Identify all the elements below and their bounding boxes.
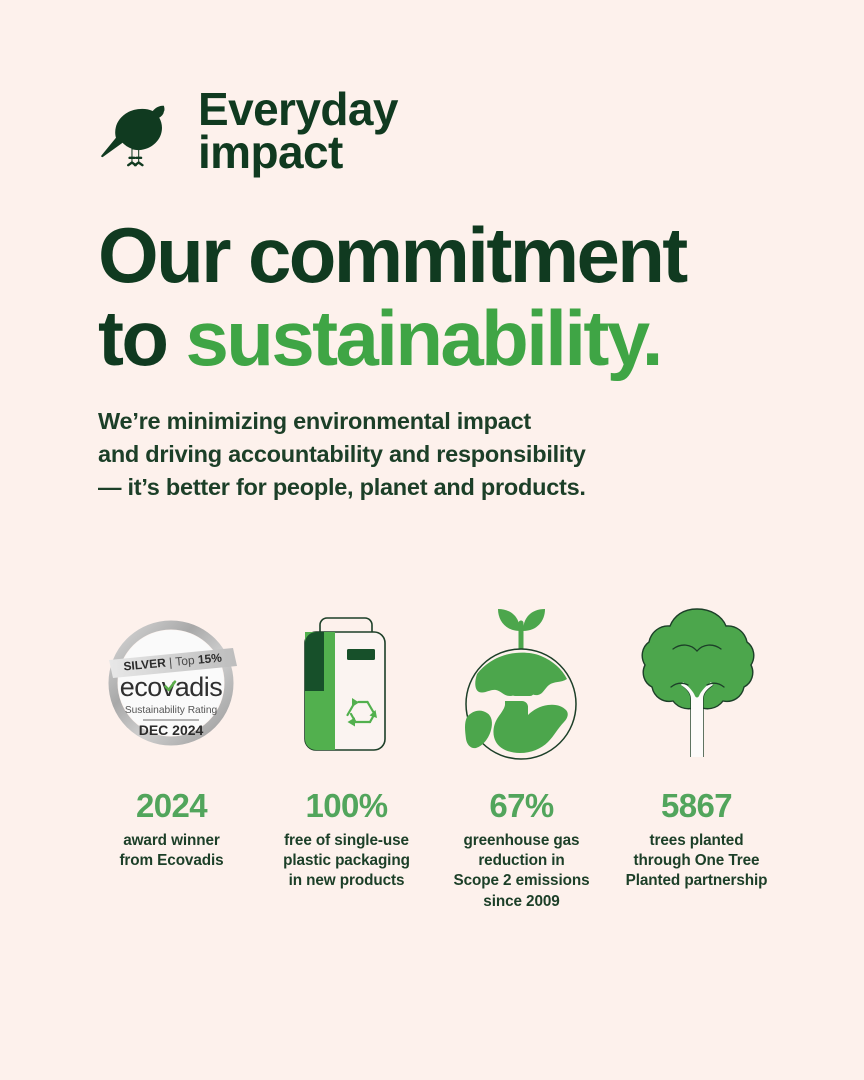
headline-line-2-prefix: to [98,294,186,382]
caption-line: through One Tree [626,851,768,871]
headline-accent-word: sustainability. [186,294,661,382]
caption-line: free of single-use [283,831,410,851]
page-title: Our commitment to sustainability. [98,214,798,379]
globe-sprout-icon [457,597,587,769]
caption-line: trees planted [626,831,768,851]
badge-rating-label: Sustainability Rating [125,705,218,716]
stat-caption: greenhouse gas reduction in Scope 2 emis… [453,831,589,912]
ecovadis-badge-icon: SILVER | Top 15% ecovadis Sustainability… [99,608,244,758]
stat-value: 5867 [661,789,732,822]
stat-icon-wrap [289,600,404,765]
stat-icon-wrap: SILVER | Top 15% ecovadis Sustainability… [99,600,244,765]
sustainability-infographic: Everyday impact Our commitment to sustai… [0,0,864,1080]
caption-line: plastic packaging [283,851,410,871]
intro-paragraph: We’re minimizing environmental impact an… [98,405,718,504]
stat-icon-wrap [637,600,757,765]
stat-emissions: 67% greenhouse gas reduction in Scope 2 … [434,600,609,912]
caption-line: since 2009 [453,892,589,912]
caption-line: from Ecovadis [119,851,223,871]
recyclable-packaging-icon [289,605,404,760]
body-line-1: We’re minimizing environmental impact [98,405,718,438]
tree-icon [637,603,757,763]
brand-line-1: Everyday [198,88,398,131]
stat-value: 67% [489,789,553,822]
caption-line: reduction in [453,851,589,871]
stat-packaging: 100% free of single-use plastic packagin… [259,600,434,912]
caption-line: greenhouse gas [453,831,589,851]
stat-caption: free of single-use plastic packaging in … [283,831,410,892]
caption-line: in new products [283,871,410,891]
brand-lockup: Everyday impact [98,88,398,174]
stat-caption: award winner from Ecovadis [119,831,223,871]
bird-icon [98,88,184,174]
badge-date: DEC 2024 [139,722,204,738]
stat-ecovadis: SILVER | Top 15% ecovadis Sustainability… [84,600,259,912]
body-line-2: and driving accountability and responsib… [98,438,718,471]
brand-wordmark: Everyday impact [198,88,398,174]
stat-trees: 5867 trees planted through One Tree Plan… [609,600,784,912]
caption-line: Planted partnership [626,871,768,891]
headline-line-1: Our commitment [98,211,686,299]
stat-icon-wrap [457,600,587,765]
stat-caption: trees planted through One Tree Planted p… [626,831,768,892]
impact-stats-row: SILVER | Top 15% ecovadis Sustainability… [84,600,784,912]
body-line-3: — it’s better for people, planet and pro… [98,471,718,504]
caption-line: Scope 2 emissions [453,871,589,891]
brand-line-2: impact [198,131,398,174]
stat-value: 2024 [136,789,207,822]
caption-line: award winner [119,831,223,851]
stat-value: 100% [305,789,387,822]
